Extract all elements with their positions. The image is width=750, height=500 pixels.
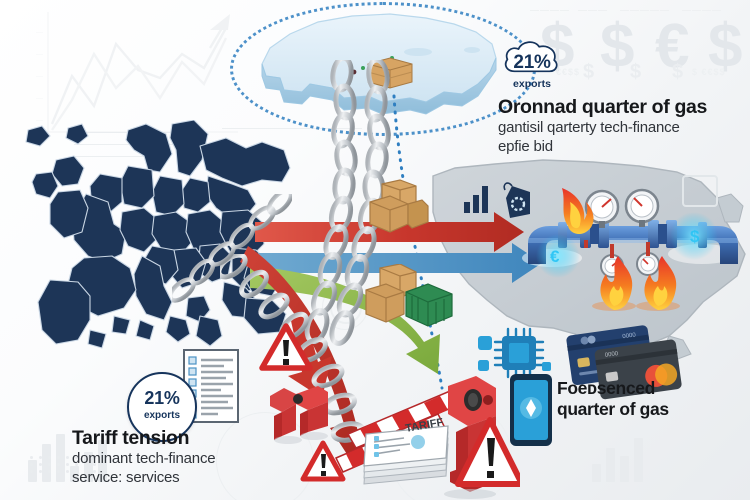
callout-heading: Tariff tension — [72, 428, 342, 450]
pressure-gauge-icon — [637, 253, 659, 275]
cloud-exports-badge[interactable]: 21% exports — [494, 38, 570, 96]
shipping-crate-icon — [366, 178, 430, 238]
callout-top-right: Oronnad quarter of gas gantisil qarterty… — [498, 97, 748, 157]
callout-subline-2: service: services — [72, 469, 342, 488]
bar-chart-icon — [462, 184, 494, 214]
gas-pipeline-icon: € $ — [522, 182, 750, 312]
callout-heading-line-1: Foeᴅsenced — [557, 378, 747, 399]
badge-value: 21% — [494, 52, 570, 74]
badge-label: exports — [129, 410, 195, 421]
shipping-crate-icon — [362, 264, 460, 332]
svg-text:€: € — [550, 247, 560, 266]
badge-value: 21% — [129, 388, 195, 409]
svg-text:$: $ — [690, 227, 700, 246]
infographic-canvas: $ $ € $ $ $ $ €€$$ $ €€$$ ———— ——— —————… — [0, 0, 750, 500]
callout-subline-2: epfie bid — [498, 138, 748, 157]
callout-subline-1: gantisil qarterty tech-finance — [498, 119, 748, 138]
callout-bottom-left: Tariff tension dominant tech-finance ser… — [72, 428, 342, 488]
callout-heading: Oronnad quarter of gas — [498, 97, 748, 119]
chain-link-icon — [172, 194, 292, 304]
warning-triangle-icon — [258, 322, 314, 374]
callout-subline-1: dominant tech-finance — [72, 450, 342, 469]
callout-heading-line-2: quarter of gas — [557, 399, 747, 420]
callout-bottom-right: Foeᴅsenced quarter of gas — [557, 378, 747, 419]
boom-barrier-icon: TARIFF — [330, 372, 520, 500]
badge-label: exports — [494, 78, 570, 90]
